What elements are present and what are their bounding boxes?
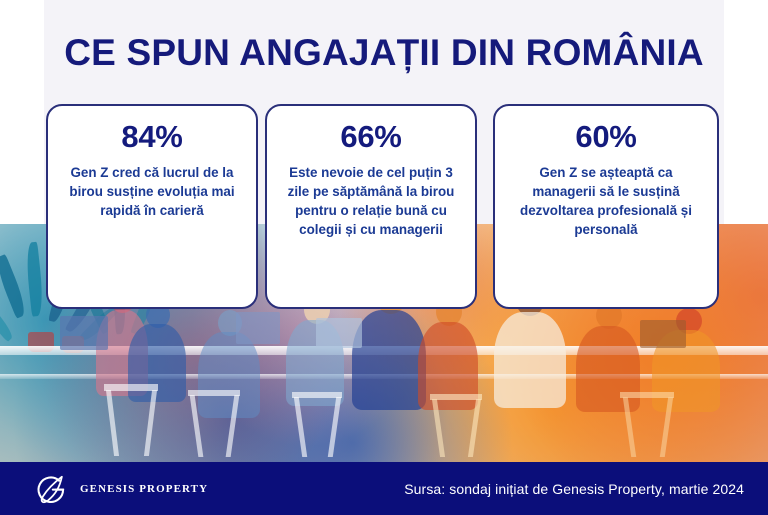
stat-card-3[interactable]: 60% Gen Z se așteaptă ca managerii să le… <box>493 104 719 309</box>
stat-description-3: Gen Z se așteaptă ca managerii să le sus… <box>505 163 707 239</box>
stat-card-group: 84% Gen Z cred că lucrul de la birou sus… <box>0 0 768 462</box>
stat-description-2: Este nevoie de cel puțin 3 zile pe săptă… <box>277 163 465 239</box>
stat-percent-2: 66% <box>340 120 401 154</box>
infographic-canvas: CE SPUN ANGAJAȚII DIN ROMÂNIA 84% Gen Z … <box>0 0 768 515</box>
source-note: Sursa: sondaj inițiat de Genesis Propert… <box>404 481 744 497</box>
stat-card-2[interactable]: 66% Este nevoie de cel puțin 3 zile pe s… <box>265 104 477 309</box>
stat-percent-1: 84% <box>121 120 182 154</box>
stat-percent-3: 60% <box>575 120 636 154</box>
genesis-g-monogram-icon <box>33 470 71 508</box>
brand-name: GENESIS PROPERTY <box>80 483 208 495</box>
stat-description-1: Gen Z cred că lucrul de la birou susține… <box>58 163 246 220</box>
footer-bar: GENESIS PROPERTY Sursa: sondaj inițiat d… <box>0 462 768 515</box>
brand-lockup[interactable]: GENESIS PROPERTY <box>33 470 208 508</box>
stat-card-1[interactable]: 84% Gen Z cred că lucrul de la birou sus… <box>46 104 258 309</box>
